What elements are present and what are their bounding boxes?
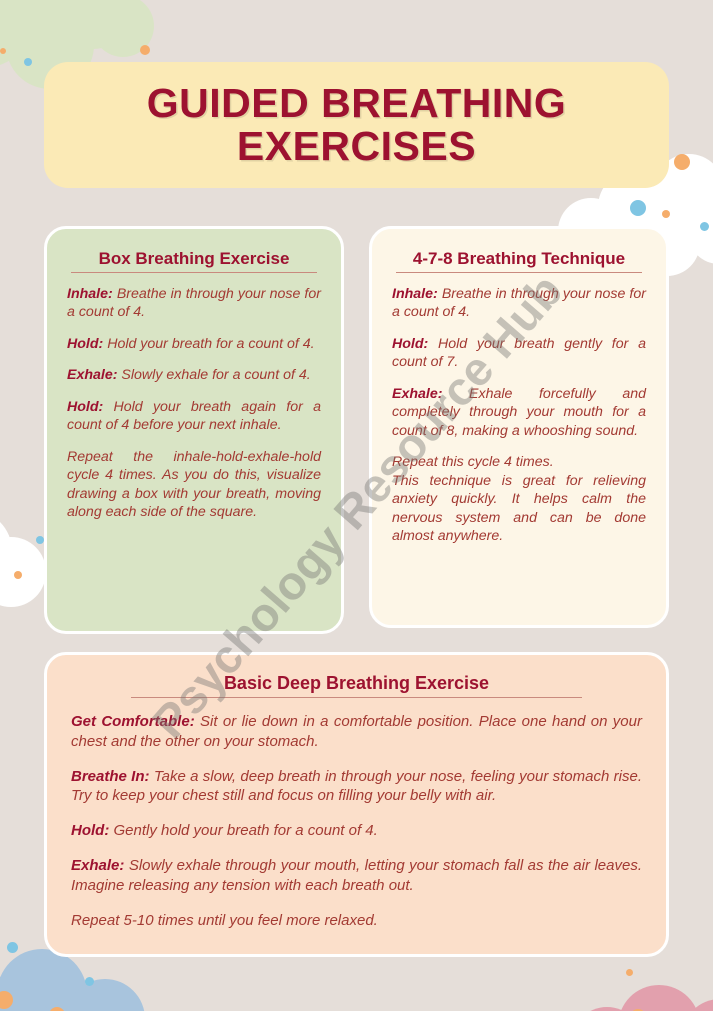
- card-paragraph: This technique is great for relieving an…: [392, 472, 646, 546]
- decorative-dot-orange: [662, 210, 670, 218]
- card-paragraph: Get Comfortable: Sit or lie down in a co…: [71, 712, 642, 752]
- card-paragraph: Hold: Gently hold your breath for a coun…: [71, 821, 642, 841]
- paragraph-label: Hold:: [67, 336, 103, 352]
- paragraph-text: Gently hold your breath for a count of 4…: [109, 822, 378, 839]
- paragraph-text: Hold your breath for a count of 4.: [103, 336, 314, 352]
- cloud-puff: [682, 999, 713, 1011]
- cloud-puff: [0, 0, 32, 67]
- card-paragraph: Hold: Hold your breath again for a count…: [67, 398, 321, 435]
- decorative-dot-orange: [626, 969, 633, 976]
- card-title: Box Breathing Exercise: [71, 249, 317, 273]
- decorative-dot-orange: [140, 45, 150, 55]
- cloud-puff: [618, 985, 700, 1011]
- card-paragraph: Repeat the inhale-hold-exhale-hold cycle…: [67, 448, 321, 522]
- paragraph-text: Hold your breath again for a count of 4 …: [67, 399, 321, 433]
- paragraph-label: Breathe In:: [71, 768, 150, 785]
- cloud-bottom-right: [570, 975, 713, 1011]
- card-paragraph: Exhale: Slowly exhale for a count of 4.: [67, 366, 321, 384]
- infographic-canvas: GUIDED BREATHING EXERCISES Psychology Re…: [0, 0, 713, 1011]
- cloud-puff: [50, 0, 136, 49]
- paragraph-text: This technique is great for relieving an…: [392, 473, 646, 544]
- paragraph-text: Repeat this cycle 4 times.: [392, 454, 554, 470]
- card-paragraph: Breathe In: Take a slow, deep breath in …: [71, 767, 642, 807]
- cloud-puff: [0, 537, 46, 607]
- decorative-dot-blue: [85, 977, 94, 986]
- paragraph-text: Slowly exhale through your mouth, lettin…: [71, 857, 642, 894]
- decorative-dot-orange: [0, 991, 13, 1009]
- card-basic-deep-breathing: Basic Deep Breathing Exercise Get Comfor…: [44, 652, 669, 957]
- decorative-dot-blue: [700, 222, 709, 231]
- decorative-dot-blue: [630, 200, 646, 216]
- decorative-dot-orange: [0, 48, 6, 54]
- paragraph-label: Get Comfortable:: [71, 713, 195, 730]
- decorative-dot-orange: [14, 571, 22, 579]
- decorative-dot-blue: [7, 942, 18, 953]
- paragraph-text: Repeat the inhale-hold-exhale-hold cycle…: [67, 449, 321, 520]
- decorative-dot-blue: [24, 58, 32, 66]
- card-paragraph: Inhale: Breathe in through your nose for…: [67, 285, 321, 322]
- paragraph-text: Repeat 5-10 times until you feel more re…: [71, 912, 378, 929]
- cloud-puff: [65, 979, 145, 1011]
- card-box-breathing: Box Breathing Exercise Inhale: Breathe i…: [44, 226, 344, 634]
- paragraph-label: Exhale:: [67, 367, 117, 383]
- decorative-dot-orange: [674, 154, 690, 170]
- cloud-puff: [570, 1007, 644, 1011]
- cloud-puff: [92, 0, 154, 57]
- paragraph-text: Hold your breath gently for a count of 7…: [392, 336, 646, 370]
- card-paragraph: Hold: Hold your breath gently for a coun…: [392, 335, 646, 372]
- header-banner: GUIDED BREATHING EXERCISES: [44, 62, 669, 188]
- paragraph-label: Hold:: [71, 822, 109, 839]
- cloud-puff: [0, 975, 31, 1011]
- page-title: GUIDED BREATHING EXERCISES: [44, 82, 669, 169]
- paragraph-label: Hold:: [392, 336, 428, 352]
- paragraph-label: Exhale:: [392, 386, 442, 402]
- decorative-dot-blue: [36, 536, 44, 544]
- card-paragraph: Exhale: Slowly exhale through your mouth…: [71, 856, 642, 896]
- paragraph-label: Inhale:: [392, 286, 438, 302]
- paragraph-text: Take a slow, deep breath in through your…: [71, 768, 642, 805]
- card-title: 4-7-8 Breathing Technique: [396, 249, 642, 273]
- card-title: Basic Deep Breathing Exercise: [131, 673, 582, 698]
- decorative-dot-orange: [49, 1007, 65, 1011]
- card-paragraph: Repeat this cycle 4 times.: [392, 453, 646, 471]
- card-paragraph: Inhale: Breathe in through your nose for…: [392, 285, 646, 322]
- paragraph-label: Inhale:: [67, 286, 113, 302]
- cloud-puff: [0, 949, 87, 1011]
- paragraph-text: Slowly exhale for a count of 4.: [117, 367, 310, 383]
- card-4-7-8-breathing: 4-7-8 Breathing Technique Inhale: Breath…: [369, 226, 669, 628]
- cloud-puff: [0, 1001, 67, 1011]
- card-paragraph: Exhale: Exhale forcefully and completely…: [392, 385, 646, 440]
- cloud-puff: [0, 510, 12, 592]
- cloud-puff: [688, 202, 713, 264]
- card-paragraph: Hold: Hold your breath for a count of 4.: [67, 335, 321, 353]
- cloud-puff: [0, 0, 84, 35]
- card-paragraph: Repeat 5-10 times until you feel more re…: [71, 911, 642, 931]
- paragraph-label: Hold:: [67, 399, 103, 415]
- paragraph-label: Exhale:: [71, 857, 124, 874]
